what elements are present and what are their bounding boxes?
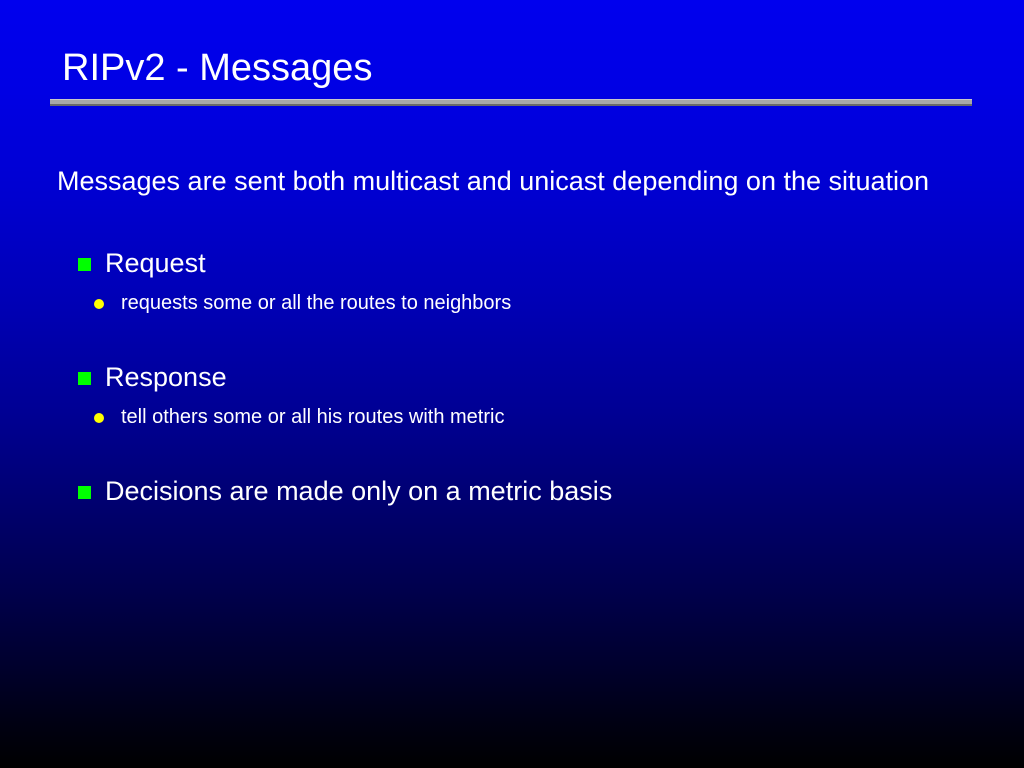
presentation-slide: RIPv2 - Messages Messages are sent both … <box>0 0 1024 768</box>
yellow-circle-bullet-icon <box>94 299 104 309</box>
bullet-label: Decisions are made only on a metric basi… <box>105 472 967 510</box>
lead-paragraph: Messages are sent both multicast and uni… <box>57 158 937 204</box>
list-item: requests some or all the routes to neigh… <box>57 288 967 318</box>
bullet-label: Request <box>105 244 967 282</box>
bullet-list: Request requests some or all the routes … <box>57 244 967 510</box>
slide-title-block: RIPv2 - Messages <box>50 46 972 90</box>
sub-bullet-label: tell others some or all his routes with … <box>121 402 967 432</box>
yellow-circle-bullet-icon <box>94 413 104 423</box>
list-item: Decisions are made only on a metric basi… <box>57 472 967 510</box>
list-item: Request <box>57 244 967 282</box>
green-square-bullet-icon <box>78 486 91 499</box>
sub-bullet-label: requests some or all the routes to neigh… <box>121 288 967 318</box>
page-title: RIPv2 - Messages <box>50 46 972 90</box>
green-square-bullet-icon <box>78 258 91 271</box>
slide-body: Messages are sent both multicast and uni… <box>57 158 967 510</box>
title-underline-rule <box>50 99 972 106</box>
green-square-bullet-icon <box>78 372 91 385</box>
list-item: tell others some or all his routes with … <box>57 402 967 432</box>
list-item: Response <box>57 358 967 396</box>
bullet-label: Response <box>105 358 967 396</box>
